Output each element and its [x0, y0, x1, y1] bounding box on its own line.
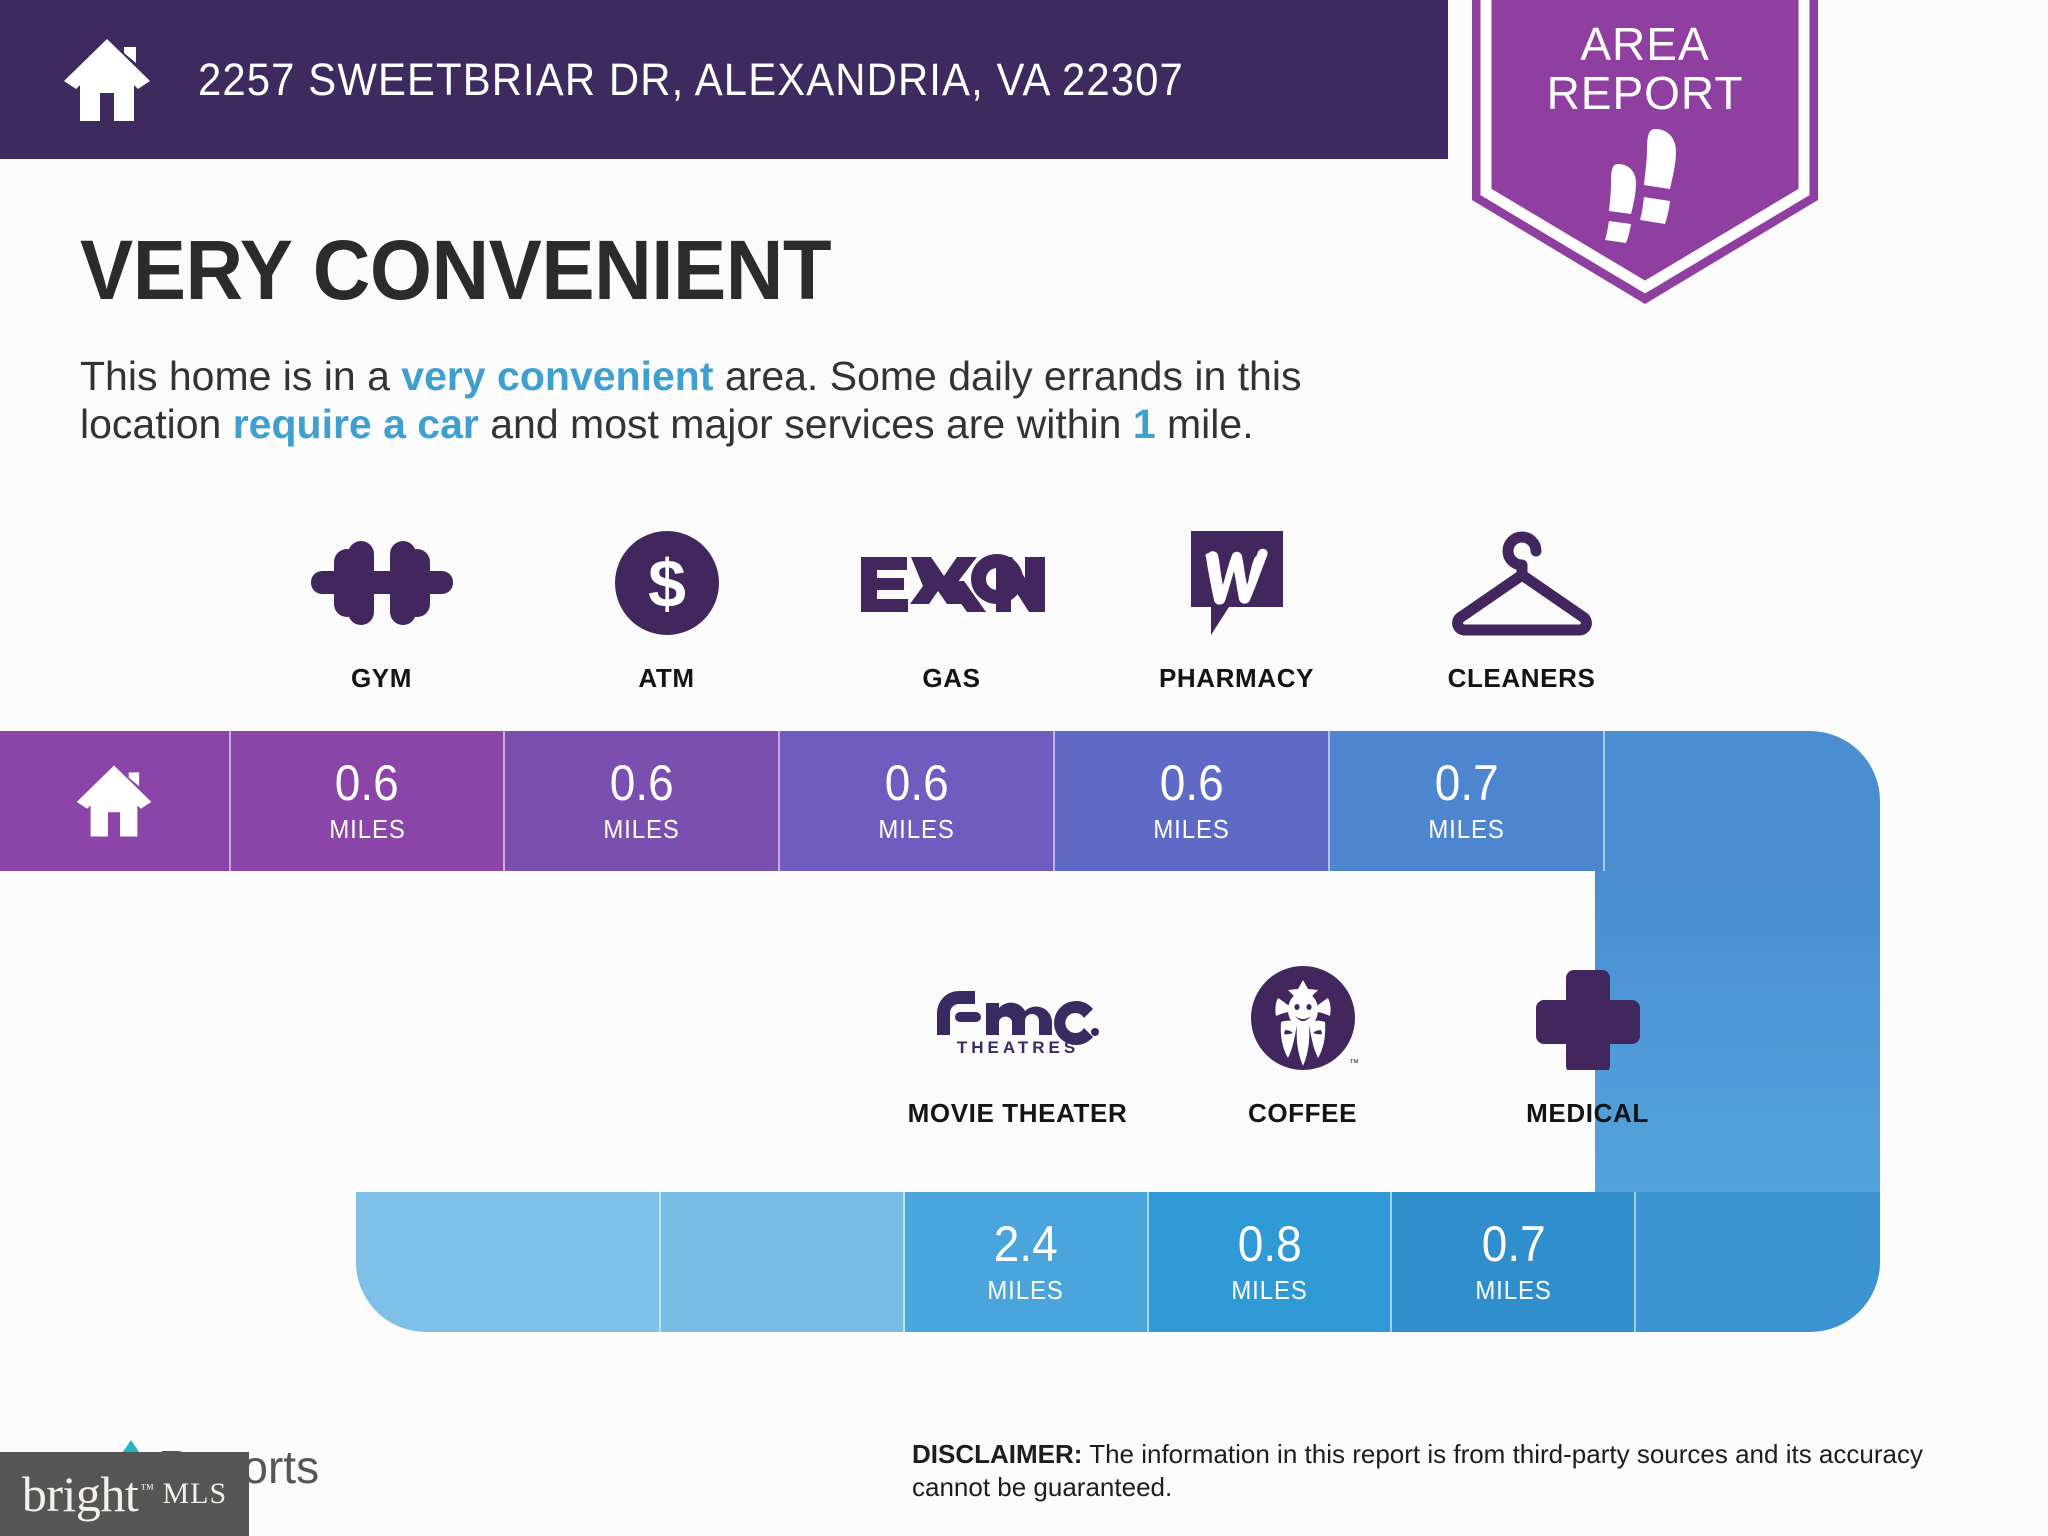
dumbbell-icon — [307, 525, 457, 641]
exxon-logo-icon — [859, 525, 1045, 641]
amenity-icon-row-primary: GYM $ ATM — [239, 525, 1664, 694]
area-report-page: 2257 SWEETBRIAR DR, ALEXANDRIA, VA 22307… — [0, 0, 2048, 1536]
bright-mls-name: bright™ — [22, 1465, 154, 1523]
amenity-icon-row-secondary: THEATRES MOVIE THEATER — [875, 960, 1730, 1129]
amenity-label: PHARMACY — [1159, 663, 1314, 694]
distance-cell-medical: 0.7 MILES — [1392, 1192, 1636, 1332]
distance-bar-lead — [356, 1192, 661, 1332]
distance-unit: MILES — [1429, 814, 1505, 845]
hanger-icon — [1447, 525, 1597, 641]
bright-mls-logo: bright™ MLS — [0, 1452, 249, 1536]
summary-highlight-1: very convenient — [401, 353, 713, 399]
summary-part-3: and most major services are within — [479, 401, 1133, 447]
distance-bar-primary: 0.6 MILES 0.6 MILES 0.6 MILES 0.6 MILES … — [0, 731, 1880, 871]
bright-mls-name-text: bright — [22, 1466, 138, 1522]
distance-cell-gas: 0.6 MILES — [780, 731, 1055, 871]
summary-highlight-3: 1 — [1133, 401, 1156, 447]
disclaimer-label: DISCLAIMER: — [912, 1439, 1082, 1469]
distance-unit: MILES — [1154, 814, 1230, 845]
summary-part-4: mile. — [1156, 401, 1254, 447]
amenity-gym: GYM — [239, 525, 524, 694]
dollar-circle-icon: $ — [615, 525, 719, 641]
amenity-label: GYM — [351, 663, 412, 694]
distance-bar-spacer — [661, 1192, 905, 1332]
bar-home-marker — [0, 731, 231, 871]
distance-value: 0.6 — [335, 758, 399, 808]
distance-value: 0.7 — [1435, 758, 1499, 808]
summary-paragraph: This home is in a very convenient area. … — [80, 352, 1450, 449]
bright-mls-sub: MLS — [162, 1477, 227, 1511]
house-icon — [62, 37, 152, 123]
house-icon — [75, 761, 153, 841]
distance-value: 0.8 — [1237, 1219, 1301, 1269]
distance-value: 0.6 — [610, 758, 674, 808]
trademark-icon: ™ — [140, 1482, 153, 1497]
property-address: 2257 SWEETBRIAR DR, ALEXANDRIA, VA 22307 — [198, 54, 1184, 106]
walgreens-logo-icon — [1185, 525, 1289, 641]
distance-unit: MILES — [879, 814, 955, 845]
distance-bar-tail — [1605, 731, 1880, 871]
svg-text:$: $ — [648, 546, 686, 622]
starbucks-logo-icon: ™ — [1247, 960, 1359, 1076]
distance-cell-pharmacy: 0.6 MILES — [1055, 731, 1330, 871]
distance-unit: MILES — [329, 814, 405, 845]
distance-unit: MILES — [987, 1275, 1063, 1306]
distance-unit: MILES — [1475, 1275, 1551, 1306]
amenity-coffee: ™ COFFEE — [1160, 960, 1445, 1129]
medical-cross-icon — [1536, 960, 1640, 1076]
distance-cell-gym: 0.6 MILES — [231, 731, 506, 871]
amenity-label: COFFEE — [1248, 1098, 1357, 1129]
disclaimer: DISCLAIMER: The information in this repo… — [912, 1438, 1976, 1505]
area-report-badge: AREA REPORT — [1472, 0, 1818, 304]
page-title: VERY CONVENIENT — [80, 222, 831, 319]
summary-part-1: This home is in a — [80, 353, 401, 399]
amenity-label: MOVIE THEATER — [908, 1098, 1128, 1129]
distance-cell-atm: 0.6 MILES — [505, 731, 780, 871]
amenity-gas: GAS — [809, 525, 1094, 694]
distance-unit: MILES — [604, 814, 680, 845]
amenity-label: GAS — [922, 663, 980, 694]
distance-cell-cleaners: 0.7 MILES — [1330, 731, 1605, 871]
header-bar: 2257 SWEETBRIAR DR, ALEXANDRIA, VA 22307 — [0, 0, 1448, 159]
amenity-pharmacy: PHARMACY — [1094, 525, 1379, 694]
distance-bar-secondary: 2.4 MILES 0.8 MILES 0.7 MILES — [356, 1192, 1880, 1332]
distance-value: 0.6 — [1160, 758, 1224, 808]
distance-value: 0.7 — [1481, 1219, 1545, 1269]
amenity-cleaners: CLEANERS — [1379, 525, 1664, 694]
distance-cell-coffee: 0.8 MILES — [1149, 1192, 1393, 1332]
amenity-label: MEDICAL — [1526, 1098, 1649, 1129]
distance-bar-tail — [1636, 1192, 1880, 1332]
amenity-label: CLEANERS — [1448, 663, 1596, 694]
distance-cell-movie-theater: 2.4 MILES — [905, 1192, 1149, 1332]
summary-highlight-2: require a car — [233, 401, 479, 447]
svg-text:THEATRES: THEATRES — [956, 1038, 1078, 1057]
amenity-movie-theater: THEATRES MOVIE THEATER — [875, 960, 1160, 1129]
distance-value: 0.6 — [885, 758, 949, 808]
amenity-medical: MEDICAL — [1445, 960, 1730, 1129]
distance-unit: MILES — [1231, 1275, 1307, 1306]
amc-logo-icon: THEATRES — [933, 960, 1103, 1076]
distance-value: 2.4 — [994, 1219, 1058, 1269]
svg-text:™: ™ — [1349, 1058, 1359, 1069]
amenity-label: ATM — [638, 663, 694, 694]
amenity-atm: $ ATM — [524, 525, 809, 694]
